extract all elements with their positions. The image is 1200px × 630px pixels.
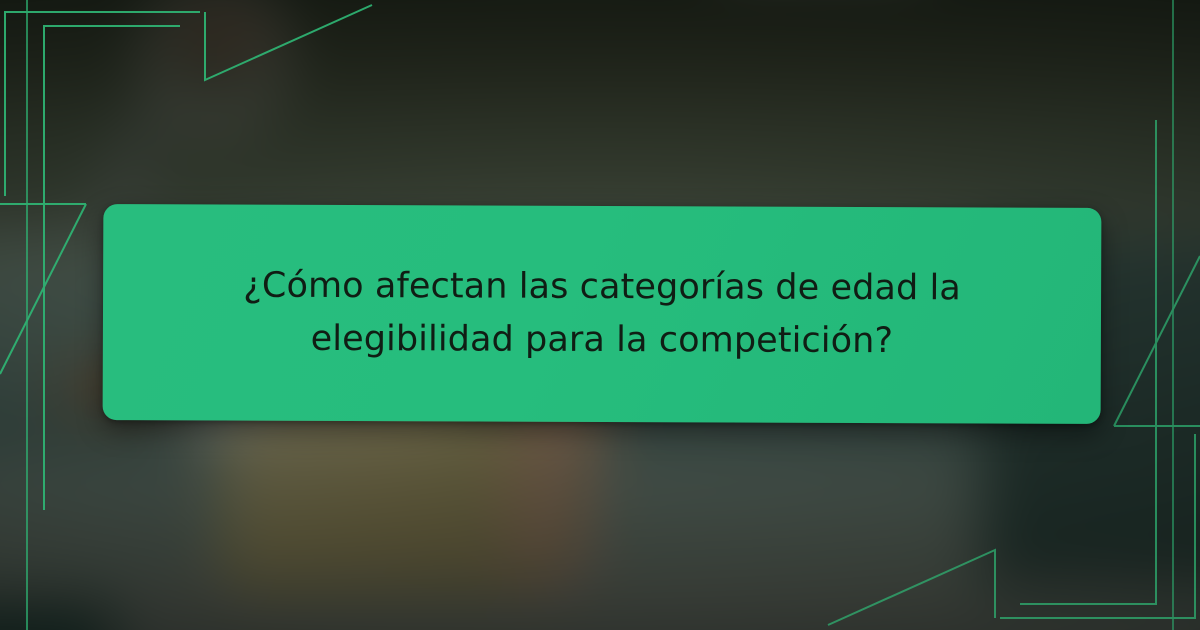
og-image-canvas: ¿Cómo afectan las categorías de edad la …: [0, 0, 1200, 630]
title-card: ¿Cómo afectan las categorías de edad la …: [103, 204, 1102, 424]
page-title: ¿Cómo afectan las categorías de edad la …: [222, 259, 982, 368]
